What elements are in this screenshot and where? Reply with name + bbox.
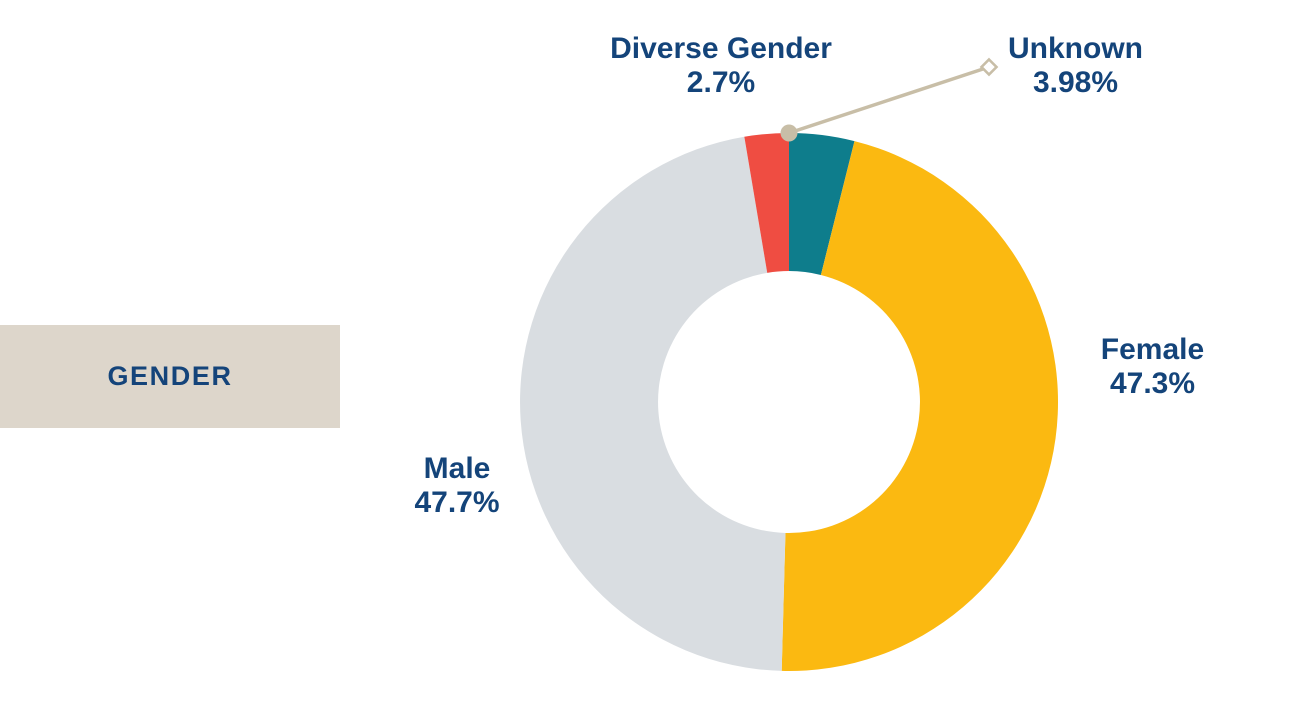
chart-page: GENDER Diverse Gender 2.7% Unknown 3.98%… xyxy=(0,0,1300,722)
slice-label-unknown-name: Unknown xyxy=(993,32,1158,66)
slice-label-unknown: Unknown 3.98% xyxy=(993,32,1158,100)
donut-slice-group xyxy=(520,133,1058,671)
slice-label-female-value: 47.3% xyxy=(1085,367,1220,401)
slice-label-unknown-value: 3.98% xyxy=(993,66,1158,100)
slice-label-diverse-gender: Diverse Gender 2.7% xyxy=(596,32,846,100)
leader-line-anchor-dot xyxy=(781,125,798,142)
slice-label-female-name: Female xyxy=(1085,333,1220,367)
slice-label-male-value: 47.7% xyxy=(392,486,522,520)
donut-slice-male[interactable] xyxy=(520,137,785,671)
slice-label-diverse-gender-name: Diverse Gender xyxy=(596,32,846,66)
slice-label-male: Male 47.7% xyxy=(392,452,522,520)
slice-label-diverse-gender-value: 2.7% xyxy=(596,66,846,100)
slice-label-female: Female 47.3% xyxy=(1085,333,1220,401)
slice-label-male-name: Male xyxy=(392,452,522,486)
